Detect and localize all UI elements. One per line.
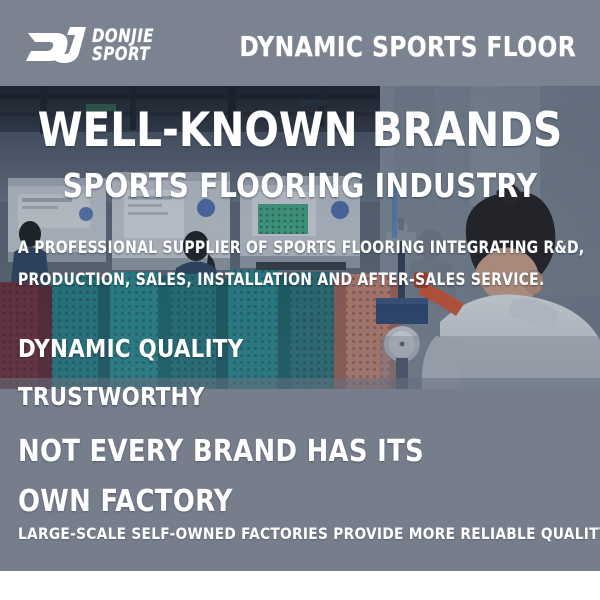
description-line-2: PRODUCTION, SALES, INSTALLATION AND AFTE… <box>18 270 545 289</box>
brand-name-line2: SPORT <box>92 45 154 63</box>
header-bar: DONJIE SPORT DYNAMIC SPORTS FLOOR <box>0 0 600 86</box>
dj-monogram-icon <box>26 23 88 67</box>
hero-subheadline: SPORTS FLOORING INDUSTRY <box>15 166 585 205</box>
value-trustworthy: TRUSTWORTHY <box>18 382 205 411</box>
value-dynamic-quality: DYNAMIC QUALITY <box>18 334 243 363</box>
factory-line-2: OWN FACTORY <box>18 484 233 519</box>
promo-banner: DONJIE SPORT DYNAMIC SPORTS FLOOR WELL-K… <box>0 0 600 571</box>
factory-caption: LARGE-SCALE SELF-OWNED FACTORIES PROVIDE… <box>18 524 600 543</box>
page-bottom-whitespace <box>0 571 600 600</box>
brand-wordmark: DONJIE SPORT <box>92 27 162 63</box>
description-line-1: A PROFESSIONAL SUPPLIER OF SPORTS FLOORI… <box>18 238 584 257</box>
hero-headline: WELL-KNOWN BRANDS <box>12 103 588 158</box>
header-title: DYNAMIC SPORTS FLOOR <box>239 30 576 63</box>
brand-logo[interactable]: DONJIE SPORT <box>26 22 162 68</box>
factory-line-1: NOT EVERY BRAND HAS ITS <box>18 434 424 469</box>
